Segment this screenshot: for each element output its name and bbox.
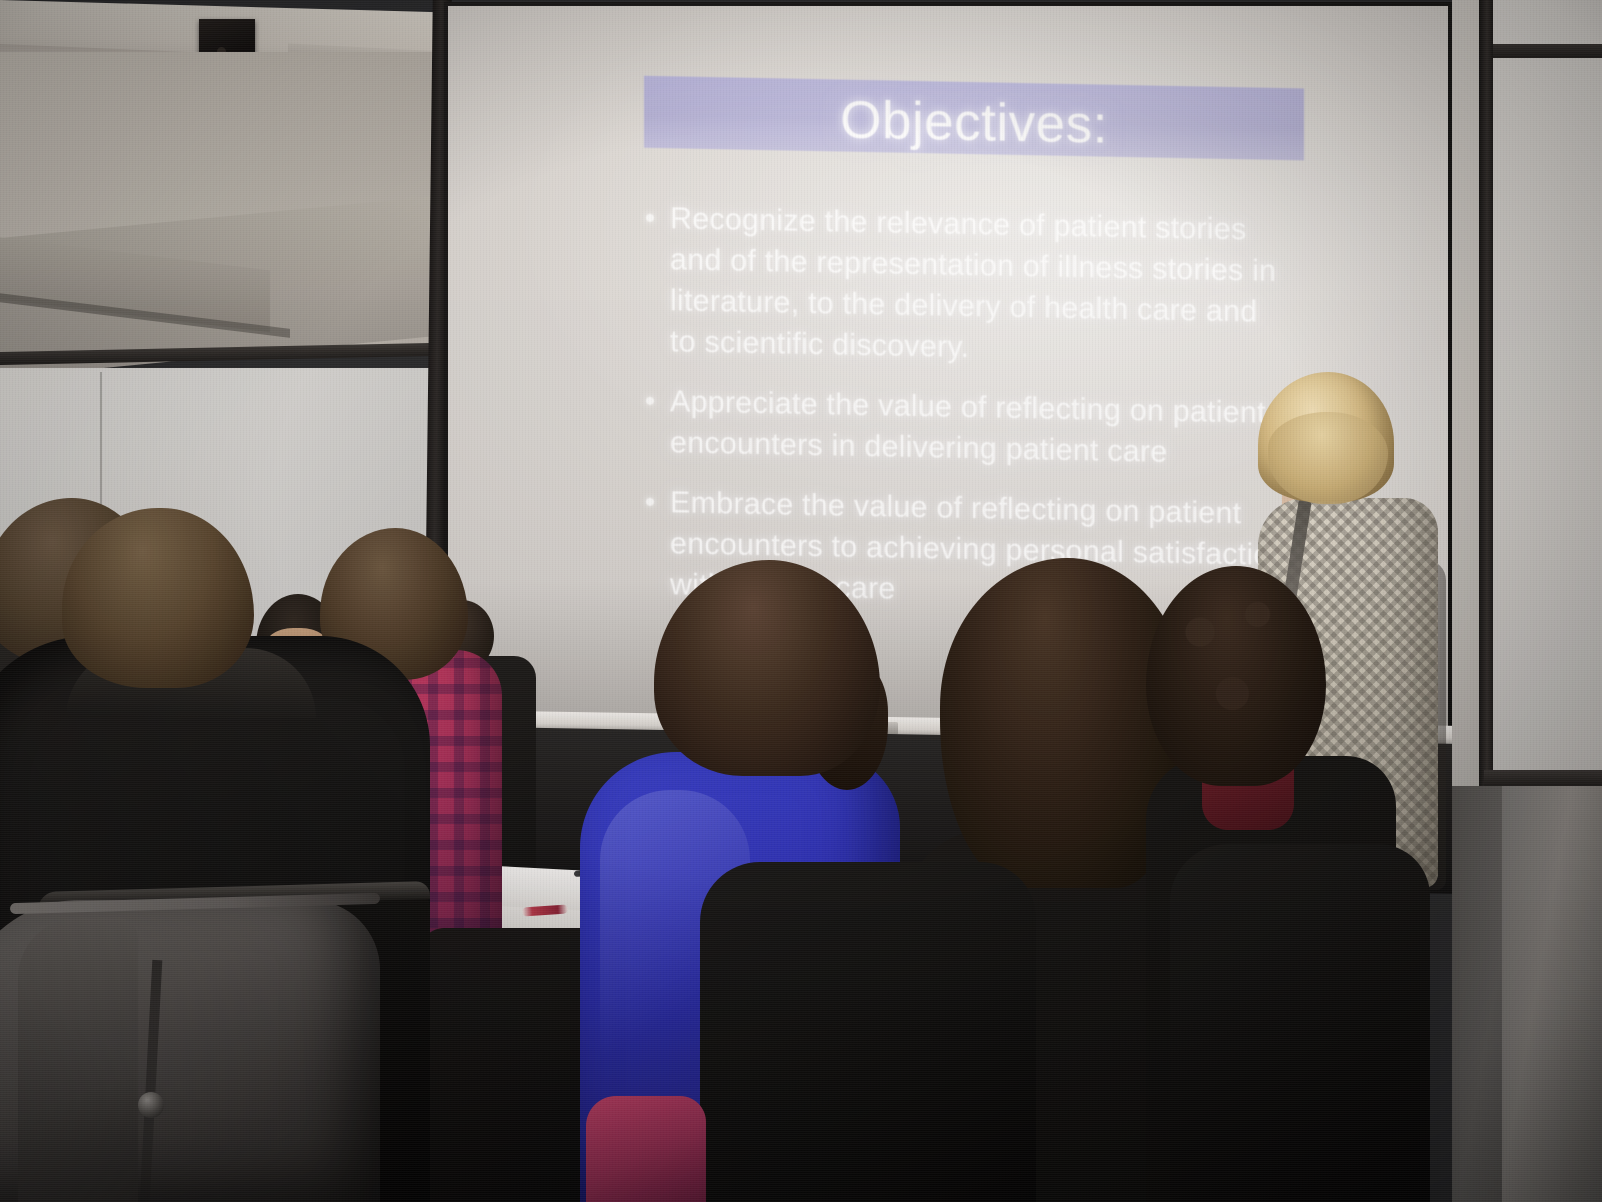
pink-bag [586,1096,706,1202]
slide-bullet-1: Recognize the relevance of patient stori… [638,198,1288,374]
whiteboard-right-rail-bottom [1484,770,1602,787]
whiteboard-right [1493,0,1602,815]
slide-title: Objectives: [644,80,1304,165]
chair-right [1170,844,1430,1202]
slide-bullet-2: Appreciate the value of reflecting on pa… [638,381,1288,475]
attendee-curly-hair-mass [1146,566,1326,786]
coat-button [138,1092,164,1118]
chair-center [700,862,1036,1202]
classroom-photo: Objectives: Recognize the relevance of p… [0,0,1602,1202]
coat-lapel [18,918,138,1202]
presenter-hair-lower [1268,412,1388,504]
wall-right-column [1502,786,1602,1202]
whiteboard-right-rail-top [1493,44,1602,58]
